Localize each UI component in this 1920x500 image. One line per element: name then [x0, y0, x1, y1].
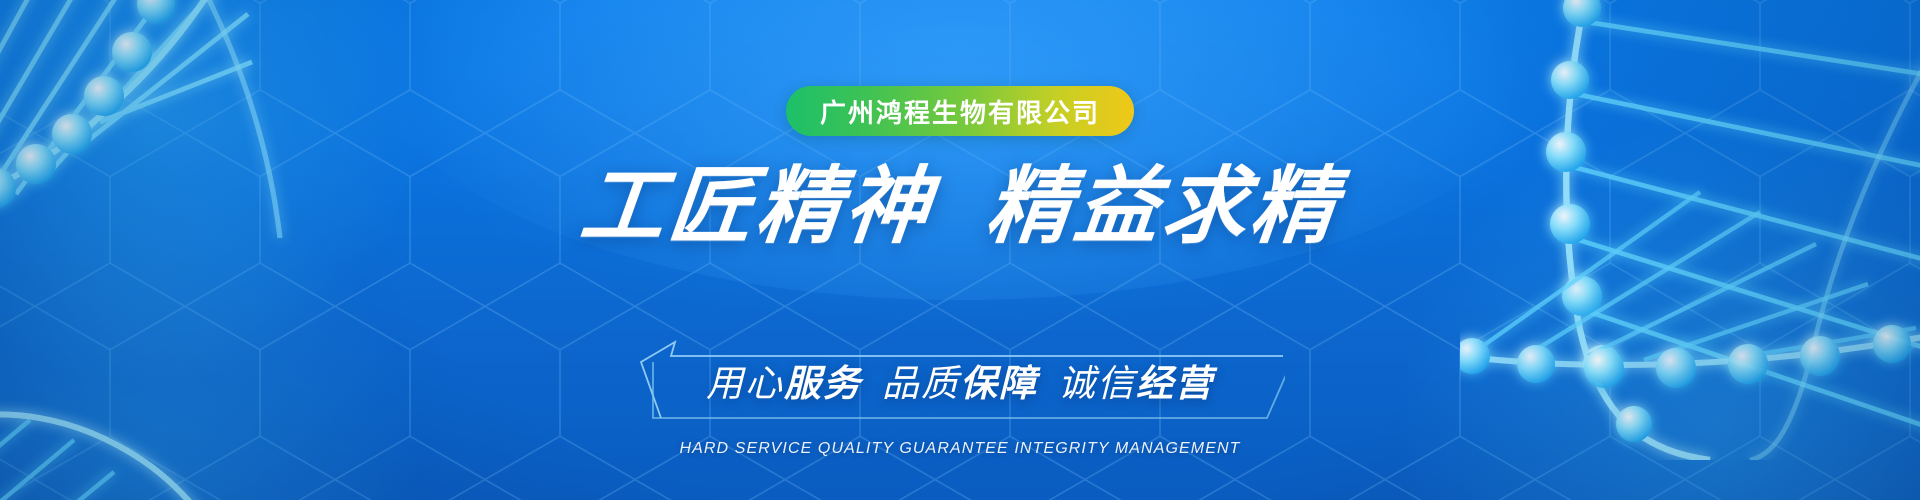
subtitle-seg3-light: 诚信 [1058, 353, 1136, 407]
banner-content: 广州鸿程生物有限公司 工匠精神 精益求精 用心服务品质保障诚信经营 HARD S… [0, 0, 1920, 500]
company-name-badge: 广州鸿程生物有限公司 [786, 86, 1134, 136]
company-name-label: 广州鸿程生物有限公司 [820, 93, 1100, 130]
subtitle-seg3-bold: 经营 [1136, 353, 1214, 407]
subtitle-frame: 用心服务品质保障诚信经营 [635, 340, 1285, 420]
english-strapline: HARD SERVICE QUALITY GUARANTEE INTEGRITY… [679, 440, 1240, 458]
page-title: 工匠精神 精益求精 [581, 162, 1339, 250]
subtitle-seg1-bold: 服务 [784, 353, 862, 407]
subtitle-seg2-light: 品质 [882, 353, 960, 407]
headline-part-2: 精益求精 [982, 162, 1343, 250]
headline-part-1: 工匠精神 [576, 162, 937, 250]
subtitle-seg1-light: 用心 [706, 353, 784, 407]
promotional-banner: 广州鸿程生物有限公司 工匠精神 精益求精 用心服务品质保障诚信经营 HARD S… [0, 0, 1920, 500]
subtitle-seg2-bold: 保障 [960, 353, 1038, 407]
subtitle-text: 用心服务品质保障诚信经营 [635, 340, 1285, 420]
